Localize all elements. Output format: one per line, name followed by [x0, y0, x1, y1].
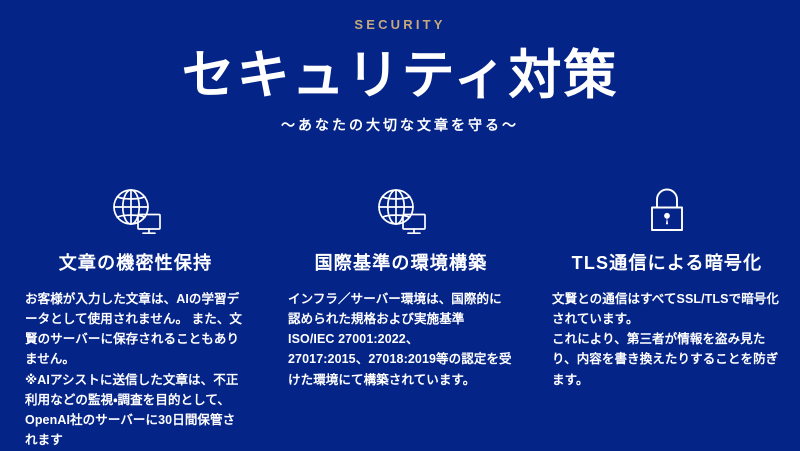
- feature-columns: 文章の機密性保持 お客様が入力した文章は、AIの学習データとして使用されません。…: [0, 183, 800, 451]
- feature-card-standards: 国際基準の環境構築 インフラ／サーバー環境は、国際的に認められた規格および実施基…: [266, 183, 532, 390]
- feature-paragraph: 27017:2015、27018:2019等の認定を受けた環境にて構築されていま…: [288, 349, 514, 390]
- globe-monitor-icon: [288, 183, 514, 239]
- feature-paragraph: ※AIアシストに送信した文章は、不正利用などの監視・調査を目的として、OpenA…: [25, 370, 246, 451]
- feature-paragraph: お客様が入力した文章は、AIの学習データとして使用されません。 また、文賢のサー…: [25, 289, 246, 370]
- feature-paragraph: ISO/IEC 27001:2022、: [288, 329, 514, 349]
- feature-heading: 文章の機密性保持: [25, 253, 246, 275]
- feature-paragraph: インフラ／サーバー環境は、国際的に認められた規格および実施基準: [288, 289, 514, 330]
- feature-paragraph: 文賢との通信はすべてSSL/TLSで暗号化されています。: [552, 289, 782, 330]
- section-header: SECURITY セキュリティ対策 〜あなたの大切な文章を守る〜: [0, 0, 800, 132]
- security-section: SECURITY セキュリティ対策 〜あなたの大切な文章を守る〜 文章の機: [0, 0, 800, 444]
- padlock-icon: [552, 183, 782, 239]
- feature-heading: 国際基準の環境構築: [288, 253, 514, 275]
- page-subtitle: 〜あなたの大切な文章を守る〜: [0, 118, 800, 132]
- feature-card-encryption: TLS通信による暗号化 文賢との通信はすべてSSL/TLSで暗号化されています。…: [532, 183, 798, 390]
- section-eyebrow: SECURITY: [0, 18, 800, 31]
- feature-body: 文賢との通信はすべてSSL/TLSで暗号化されています。 これにより、第三者が情…: [552, 289, 782, 390]
- feature-body: お客様が入力した文章は、AIの学習データとして使用されません。 また、文賢のサー…: [25, 289, 246, 451]
- globe-monitor-icon: [25, 183, 246, 239]
- page-title: セキュリティ対策: [0, 48, 800, 104]
- feature-card-confidentiality: 文章の機密性保持 お客様が入力した文章は、AIの学習データとして使用されません。…: [0, 183, 266, 451]
- feature-body: インフラ／サーバー環境は、国際的に認められた規格および実施基準 ISO/IEC …: [288, 289, 514, 390]
- feature-paragraph: これにより、第三者が情報を盗み見たり、内容を書き換えたりすることを防ぎます。: [552, 329, 782, 390]
- feature-heading: TLS通信による暗号化: [552, 253, 782, 275]
